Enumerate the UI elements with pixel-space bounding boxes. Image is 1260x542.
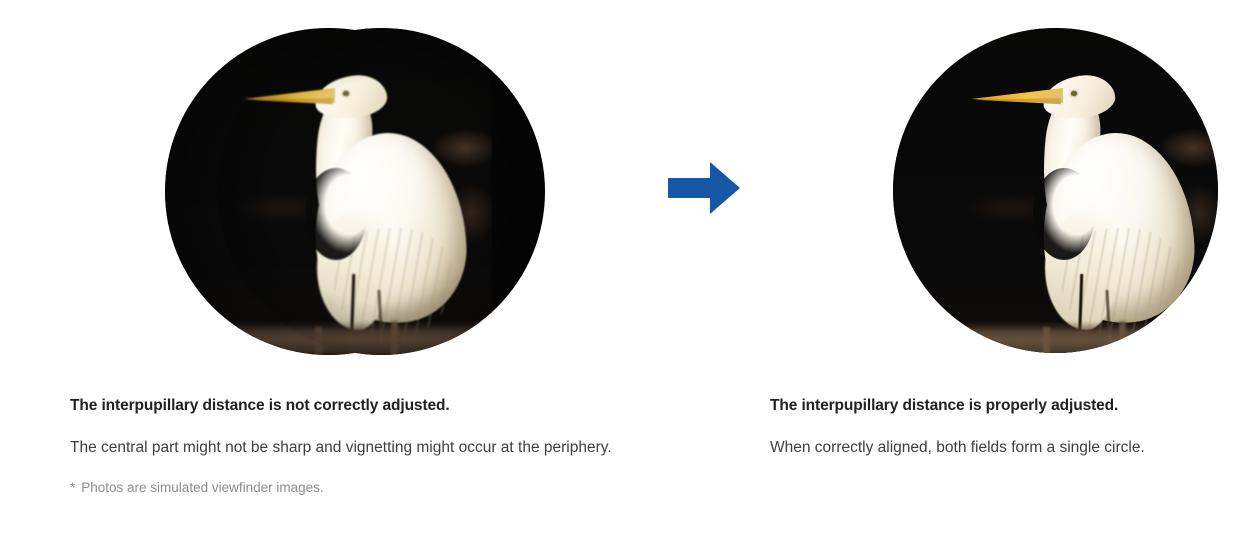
figure-row [0,0,1260,375]
caption-title-left: The interpupillary distance is not corre… [70,375,650,416]
scene-post-1 [315,327,322,355]
egret-neck-shadow [305,168,367,260]
caption-title-right: The interpupillary distance is properly … [770,375,1240,416]
scene-post-2 [391,321,398,355]
footnote-marker: * [70,480,75,495]
caption-column-right: The interpupillary distance is properly … [770,375,1240,462]
scene-post-1 [1043,327,1050,353]
viewfinder-lens-right [218,28,545,355]
caption-row: The interpupillary distance is not corre… [0,375,1260,542]
egret-illustration [893,28,1218,353]
scene-ground [218,321,502,355]
arrow-right-icon [668,162,740,214]
scene-post-2 [1119,321,1126,353]
egret-neck-shadow [1033,168,1095,260]
viewfinder-scene [893,28,1218,353]
footnote-text: Photos are simulated viewfinder images. [81,480,323,495]
caption-body-right: When correctly aligned, both fields form… [770,416,1240,462]
viewfinder-scene [218,28,492,355]
egret-eye [1071,91,1077,96]
caption-column-left: The interpupillary distance is not corre… [70,375,650,497]
scene-ground [893,321,1218,353]
egret-illustration [218,28,492,355]
caption-body-left: The central part might not be sharp and … [70,416,650,462]
egret-eye [343,91,349,96]
footnote: *Photos are simulated viewfinder images. [70,462,650,497]
aligned-viewfinder [893,28,1218,353]
misaligned-viewfinder [165,28,545,355]
